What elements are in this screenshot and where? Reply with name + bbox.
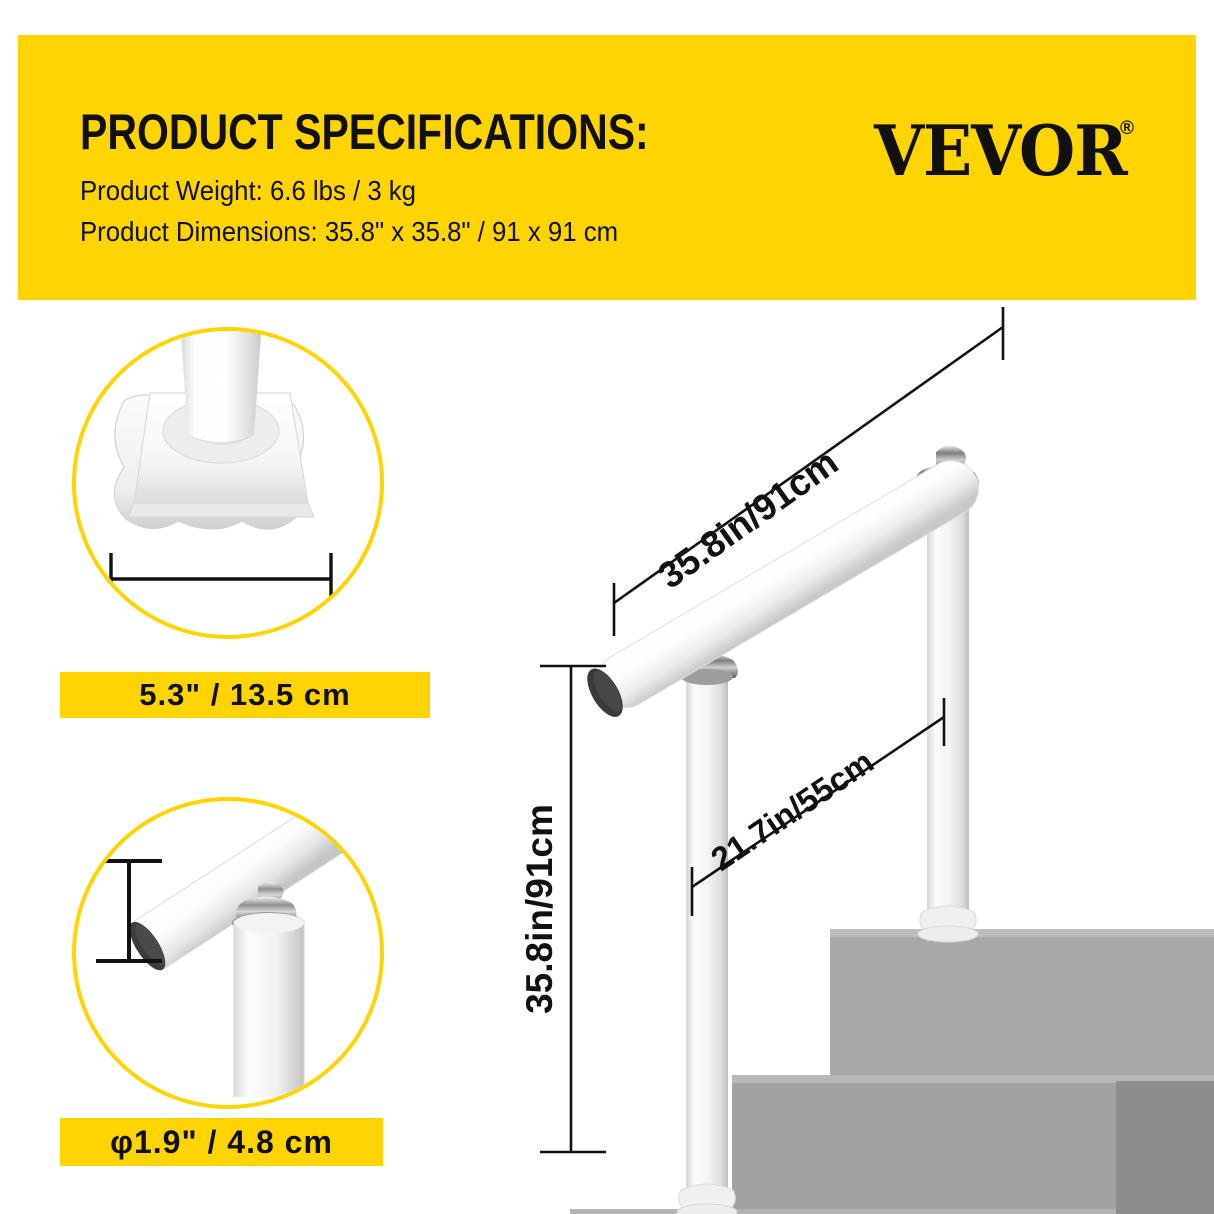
detail-circle-base-plate [72,327,384,639]
total-height-label: 35.8in/91cm [519,804,560,1014]
base-plate-illustration [76,331,372,627]
post-right [918,481,978,942]
header-banner: PRODUCT SPECIFICATIONS: Product Weight: … [18,35,1196,300]
brand-name: VEVOR [874,117,1127,186]
brand-logo: VEVOR ® [874,117,1134,179]
post-tube [234,913,304,1097]
base-plate-caption: 5.3" / 13.5 cm [60,672,430,718]
tube-diameter-caption: φ1.9" / 4.8 cm [60,1118,383,1166]
spec-line-weight: Product Weight: 6.6 lbs / 3 kg [80,175,416,207]
post-spacing-label: 21.7in/55cm [704,742,880,877]
post-tube [180,331,262,445]
detail-circle-tube-diameter [72,797,384,1109]
handrail-diagram: 35.8in/91cm 21.7in/55cm 35.8in/91cm [470,300,1214,1214]
tube-diameter-illustration [76,801,372,1097]
post-left [677,668,737,1214]
page-title: PRODUCT SPECIFICATIONS: [80,107,649,157]
width-dimension-line [111,553,331,603]
product-spec-page: PRODUCT SPECIFICATIONS: Product Weight: … [0,0,1214,1214]
spec-line-dimensions: Product Dimensions: 35.8" x 35.8" / 91 x… [80,216,618,248]
stairs [570,929,1214,1214]
